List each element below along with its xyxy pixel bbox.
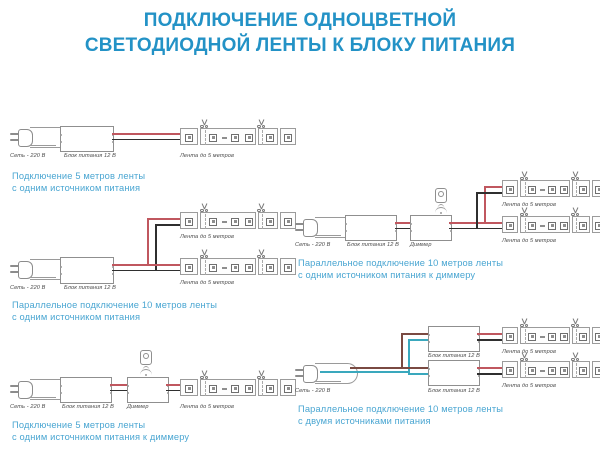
wire-ac-live [401,367,431,369]
scissors-ring [520,324,523,327]
dimmer-terminal [127,392,129,394]
scissors-cut-marker-icon [570,352,581,361]
led-strip [502,327,600,344]
strip-cut-line [576,363,577,378]
scissors-ring [576,324,579,327]
caption-line1: Параллельное подключение 10 метров ленты [298,404,503,414]
strip-led [185,385,193,393]
scissors-cut-marker-icon [570,318,581,327]
caption-line2: с одним источником питания к диммеру [12,431,189,443]
label-mains: Сеть - 220 В [295,388,330,394]
caption-line1: Подключение 5 метров ленты [12,420,145,430]
psu-terminal [60,385,62,387]
strip-segment [520,327,570,344]
strip-segment [520,361,570,378]
strip-segment [572,327,590,344]
label-mains: Сеть - 220 В [10,404,45,410]
label-psu: Блок питания 12 В [428,388,480,394]
label-psu: Блок питания 12 В [428,353,480,359]
psu-terminal [60,392,62,394]
scissors-cut-marker-icon [199,370,210,379]
strip-led [548,333,556,341]
strip-segment [258,379,278,396]
strip-led [595,333,600,341]
strip-led [560,367,568,375]
strip-led [579,333,587,341]
label-strip: Лента до 5 метров [502,383,556,389]
scissors-ring [576,358,579,361]
dimmer-box [127,377,169,403]
scissors-ring [525,358,528,361]
scissors-cut-marker-icon [519,352,530,361]
label-strip: Лента до 5 метров [180,404,234,410]
psu-terminal [428,375,430,377]
scissors-ring [571,358,574,361]
strip-resistor [222,388,227,390]
power-supply-box [428,360,480,386]
wire-ac-live [350,367,402,369]
led-strip [502,361,600,378]
scissors-ring [520,358,523,361]
strip-cut-line [576,329,577,344]
scissors-ring [200,376,203,379]
strip-led [595,367,600,375]
caption-line2: с двумя источниками питания [298,415,503,427]
label-dimmer: Диммер [127,404,149,410]
strip-end-segment [592,361,600,378]
strip-led [245,385,253,393]
diagram-3: Сеть - 220 В Блок питания 12 В Диммер [0,0,300,452]
wire-ac-live-riser [401,333,403,369]
wire-ac-neutral [320,371,408,373]
strip-led [548,367,556,375]
power-supply-box [60,377,112,403]
led-strip [180,379,296,396]
scissors-ring [571,324,574,327]
diagram-5-caption: Параллельное подключение 10 метров ленты… [298,403,503,428]
psu-terminal [478,341,480,343]
strip-connector-segment [502,327,518,344]
diagram-canvas: ПОДКЛЮЧЕНИЕ ОДНОЦВЕТНОЙ СВЕТОДИОДНОЙ ЛЕН… [0,0,600,452]
plug-cord-tail [315,381,341,382]
strip-cut-line [262,381,263,396]
mains-plug-icon [295,362,357,384]
strip-resistor [540,336,545,338]
dimmer-terminal [127,385,129,387]
strip-led [209,385,217,393]
signal-origin-dot [145,374,147,376]
scissors-ring [262,376,265,379]
dimmer-terminal [167,392,169,394]
wire-negative [110,390,128,392]
psu-terminal [428,368,430,370]
power-supply-box [428,326,480,352]
scissors-ring [205,376,208,379]
strip-cut-line [205,381,206,396]
scissors-ring [257,376,260,379]
wire-positive [110,384,128,386]
strip-led [528,333,536,341]
plug-cord-tail [30,397,56,398]
psu-terminal [428,334,430,336]
strip-segment [572,361,590,378]
strip-connector-segment [180,379,198,396]
scissors-cut-marker-icon [256,370,267,379]
strip-cut-line [525,329,526,344]
strip-led [506,367,514,375]
strip-end-segment [592,327,600,344]
strip-connector-segment [502,361,518,378]
diagram-5: Сеть - 220 В Блок питания 12 В Блок пита… [290,0,600,452]
remote-control-icon [138,350,154,376]
strip-led [528,367,536,375]
psu-terminal [110,392,112,394]
strip-segment [200,379,256,396]
psu-terminal [478,375,480,377]
strip-resistor [540,370,545,372]
label-psu: Блок питания 12 В [62,404,114,410]
scissors-cut-marker-icon [519,318,530,327]
diagram-3-caption: Подключение 5 метров ленты с одним источ… [12,419,189,444]
strip-led [560,333,568,341]
strip-led [579,367,587,375]
psu-terminal [428,341,430,343]
strip-led [506,333,514,341]
strip-led [231,385,239,393]
strip-cut-line [525,363,526,378]
strip-led [266,385,274,393]
wire-ac-live [401,333,431,335]
scissors-ring [525,324,528,327]
